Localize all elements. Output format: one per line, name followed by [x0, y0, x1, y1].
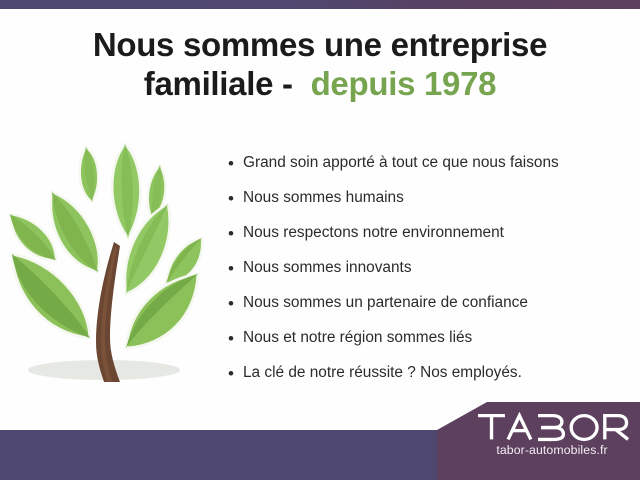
- list-item: • Nous sommes innovants: [228, 257, 628, 292]
- page-title-line-1: Nous sommes une entreprise: [0, 26, 640, 65]
- tree-illustration: [8, 142, 204, 390]
- benefits-list: • Grand soin apporté à tout ce que nous …: [228, 152, 628, 397]
- list-item-label: Grand soin apporté à tout ce que nous fa…: [243, 152, 628, 174]
- list-item: • Nous sommes un partenaire de confiance: [228, 292, 628, 327]
- page-title: Nous sommes une entreprise familiale - d…: [0, 26, 640, 103]
- page-title-line-2-plain: familiale -: [144, 65, 302, 102]
- bullet-marker-icon: •: [228, 152, 243, 174]
- list-item-label: Nous et notre région sommes liés: [243, 327, 628, 349]
- list-item: • Nous et notre région sommes liés: [228, 327, 628, 362]
- list-item-label: Nous sommes innovants: [243, 257, 628, 279]
- brand-tagline: tabor-automobiles.fr: [476, 443, 628, 457]
- list-item: • Nous sommes humains: [228, 187, 628, 222]
- leaf-upper-left-small: [80, 147, 99, 202]
- tabor-wordmark: [476, 412, 631, 442]
- slide-canvas: Nous sommes une entreprise familiale - d…: [0, 0, 640, 480]
- bullet-marker-icon: •: [228, 187, 243, 209]
- bullet-marker-icon: •: [228, 362, 243, 384]
- bullet-marker-icon: •: [228, 257, 243, 279]
- brand-logo: tabor-automobiles.fr: [476, 412, 628, 457]
- list-item: • La clé de notre réussite ? Nos employé…: [228, 362, 628, 397]
- list-item-label: Nous sommes un partenaire de confiance: [243, 292, 628, 314]
- bullet-marker-icon: •: [228, 292, 243, 314]
- leaf-top-center: [112, 144, 140, 238]
- list-item-label: La clé de notre réussite ? Nos employés.: [243, 362, 628, 384]
- leaf-left-large: [12, 254, 90, 338]
- leaf-left-upper: [51, 192, 99, 272]
- bullet-marker-icon: •: [228, 222, 243, 244]
- bullet-marker-icon: •: [228, 327, 243, 349]
- top-accent-bar: [0, 0, 640, 9]
- list-item: • Grand soin apporté à tout ce que nous …: [228, 152, 628, 187]
- list-item-label: Nous respectons notre environnement: [243, 222, 628, 244]
- page-title-accent: depuis 1978: [311, 65, 497, 102]
- list-item-label: Nous sommes humains: [243, 187, 628, 209]
- list-item: • Nous respectons notre environnement: [228, 222, 628, 257]
- leaf-far-left-small: [10, 214, 56, 260]
- page-title-line-2: familiale - depuis 1978: [0, 65, 640, 104]
